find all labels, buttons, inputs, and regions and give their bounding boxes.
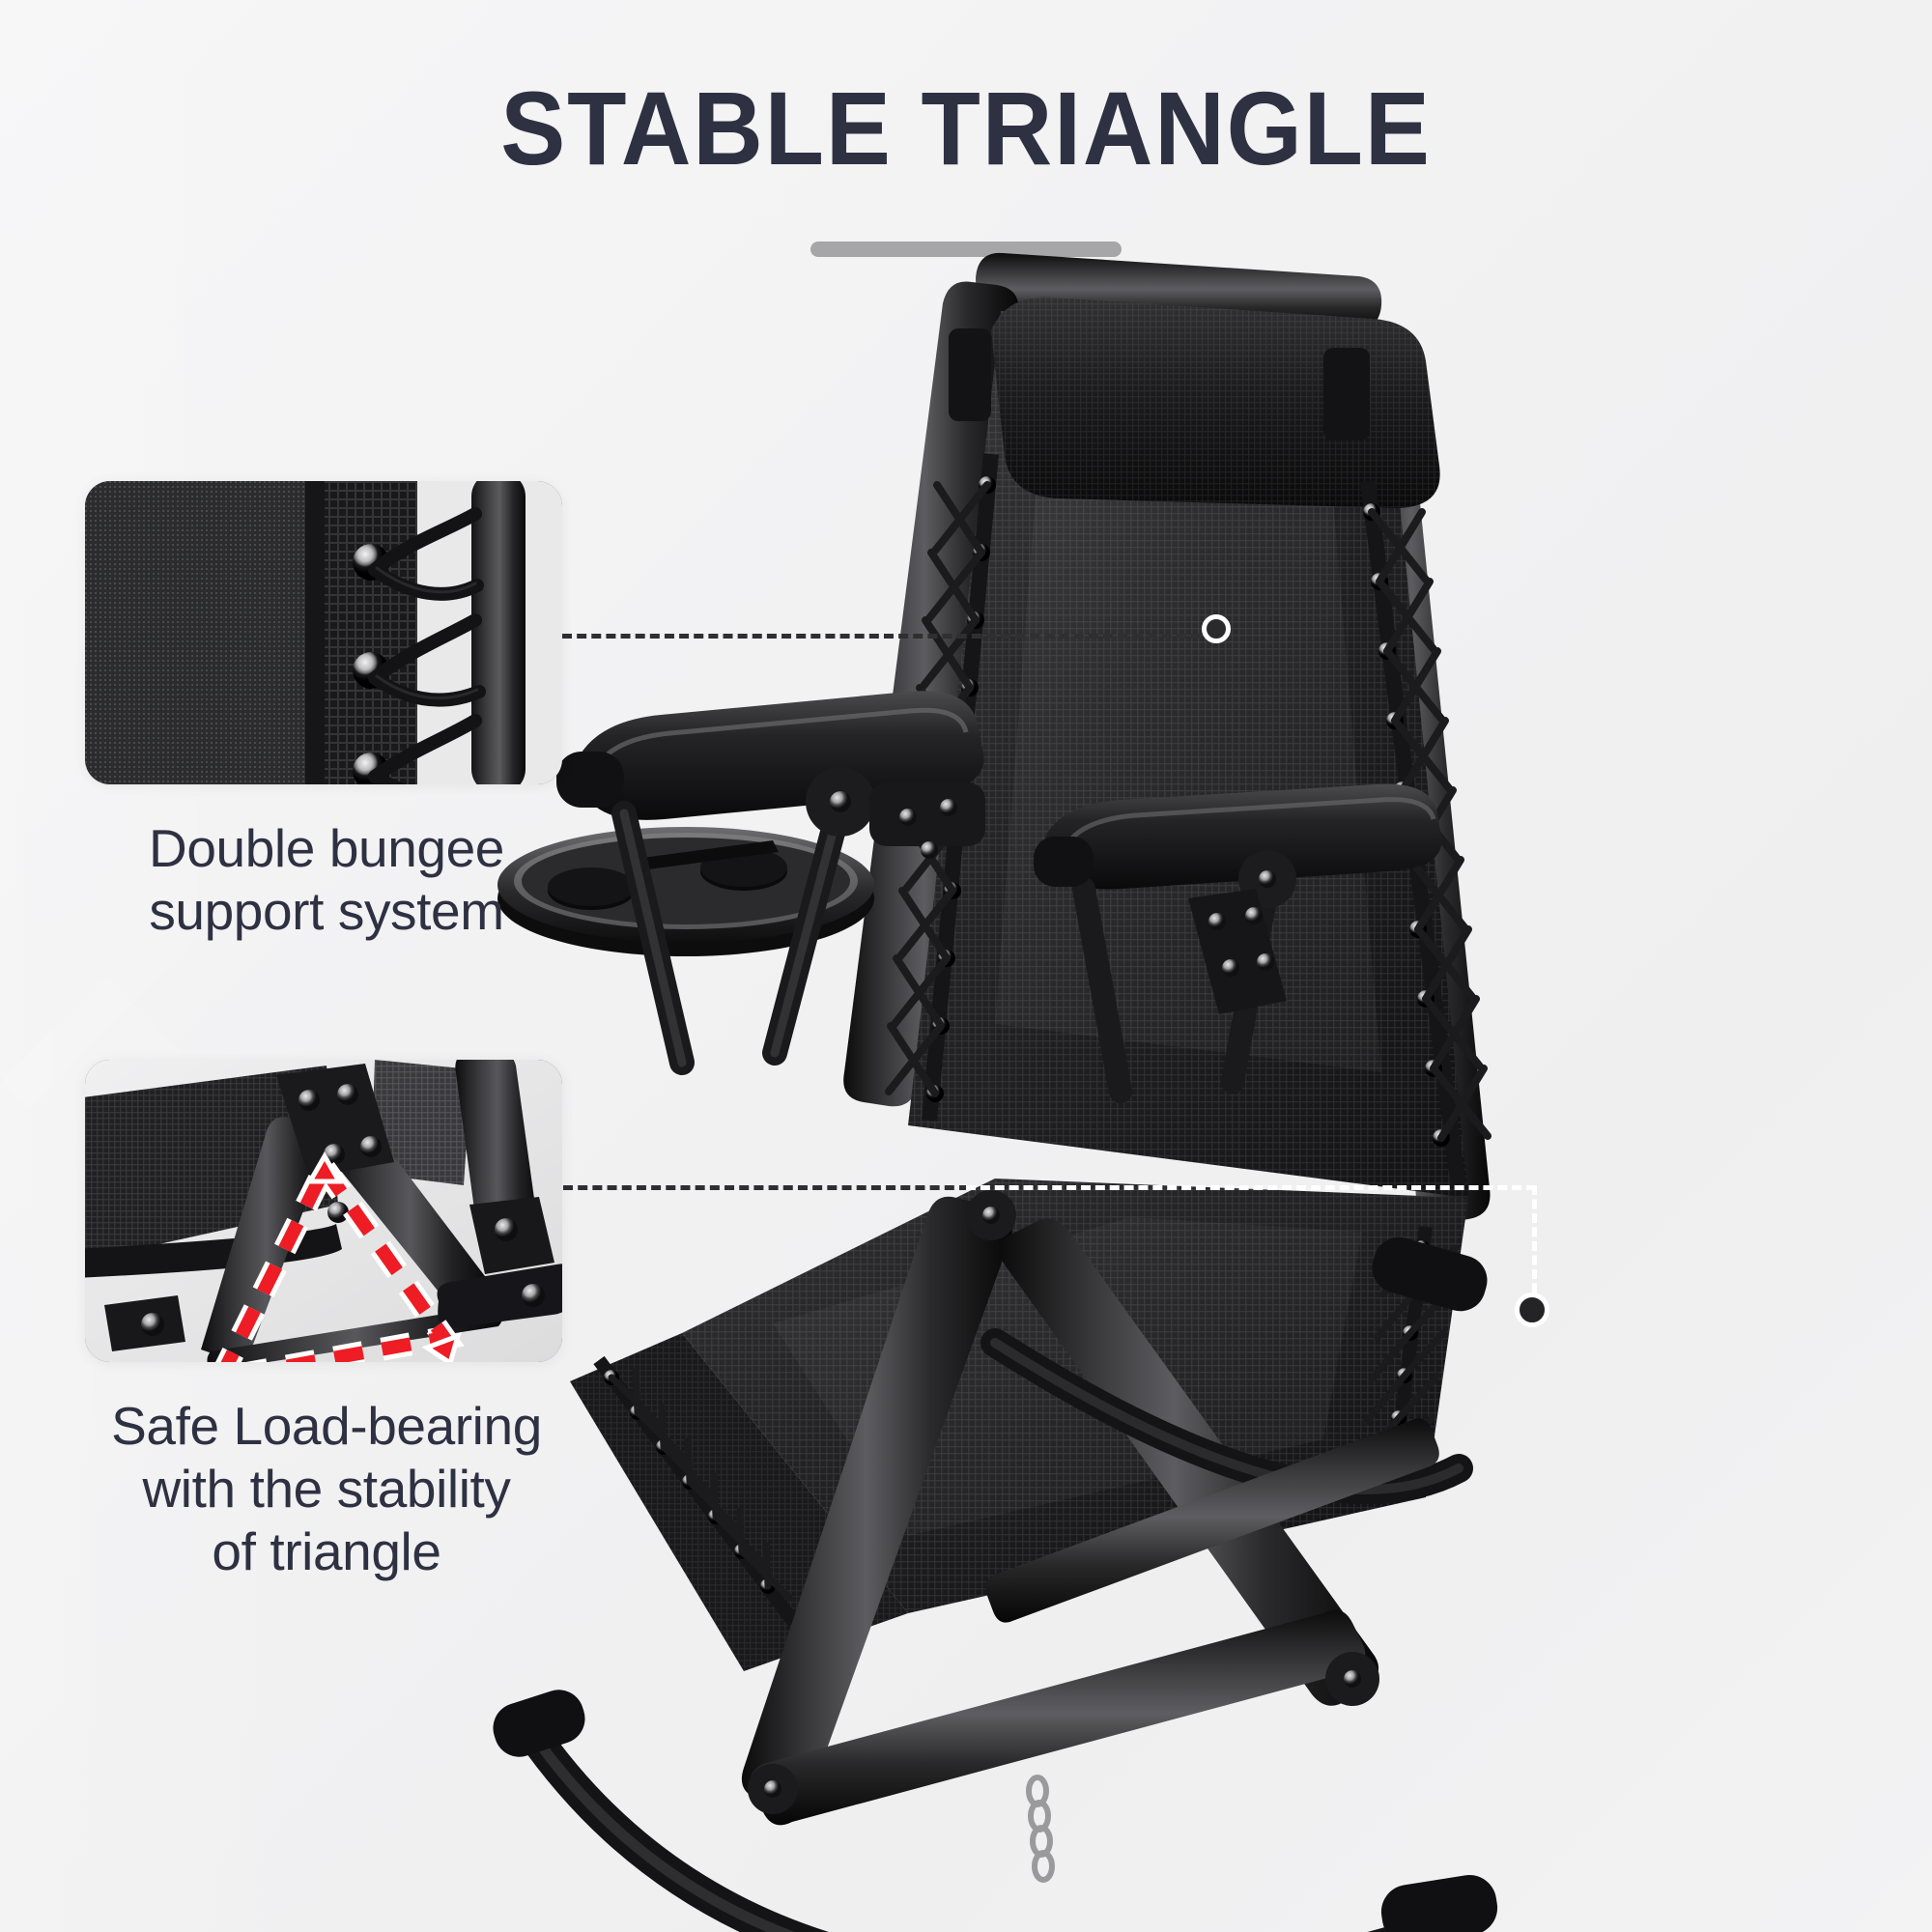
leader-2-dash-light [563, 1185, 969, 1190]
bungee-closeup-illustration [85, 481, 562, 784]
callout-2-caption-line-1: Safe Load-bearing [85, 1395, 568, 1458]
callout-2-caption: Safe Load-bearing with the stability of … [85, 1395, 568, 1583]
frame-tube [471, 481, 526, 784]
fabric-face [85, 481, 307, 784]
callout-1-photo [85, 481, 562, 784]
headrest-strap-left [949, 328, 991, 421]
callout-2-caption-line-3: of triangle [85, 1520, 568, 1583]
leader-1-dash [562, 634, 1215, 639]
callout-2-caption-line-2: with the stability [85, 1458, 568, 1520]
safety-chain [1029, 1777, 1052, 1880]
infographic-canvas: STABLE TRIANGLE [0, 0, 1932, 1932]
callout-2-photo-card [85, 1060, 562, 1362]
leg-joint-closeup-illustration [85, 1060, 562, 1362]
leader-2-dash-vertical [1532, 1185, 1537, 1307]
headrest-pillow-texture [991, 298, 1440, 508]
callout-1-caption: Double bungee support system [85, 817, 568, 943]
callout-1-caption-line-1: Double bungee [85, 817, 568, 880]
chair-illustration [454, 222, 1932, 1932]
armrest-endcap-right [1034, 837, 1094, 887]
headrest-strap-right [1323, 348, 1370, 440]
callout-1-caption-line-2: support system [85, 880, 568, 943]
callout-1-photo-card [85, 481, 562, 784]
foot-cap-front [487, 1684, 592, 1764]
callout-2-photo [85, 1060, 562, 1362]
fabric-binding [305, 481, 327, 784]
foot-cap-rear [1378, 1871, 1501, 1932]
page-title: STABLE TRIANGLE [68, 75, 1864, 182]
leader-2-endpoint-dot [1515, 1293, 1549, 1327]
leader-1-endpoint-dot [1202, 614, 1231, 643]
callout-stable-triangle: Safe Load-bearing with the stability of … [85, 1060, 568, 1583]
product-photo-chair [454, 222, 1932, 1932]
leader-2-dash-dark [966, 1185, 1536, 1190]
callout-double-bungee: Double bungee support system [85, 481, 568, 943]
